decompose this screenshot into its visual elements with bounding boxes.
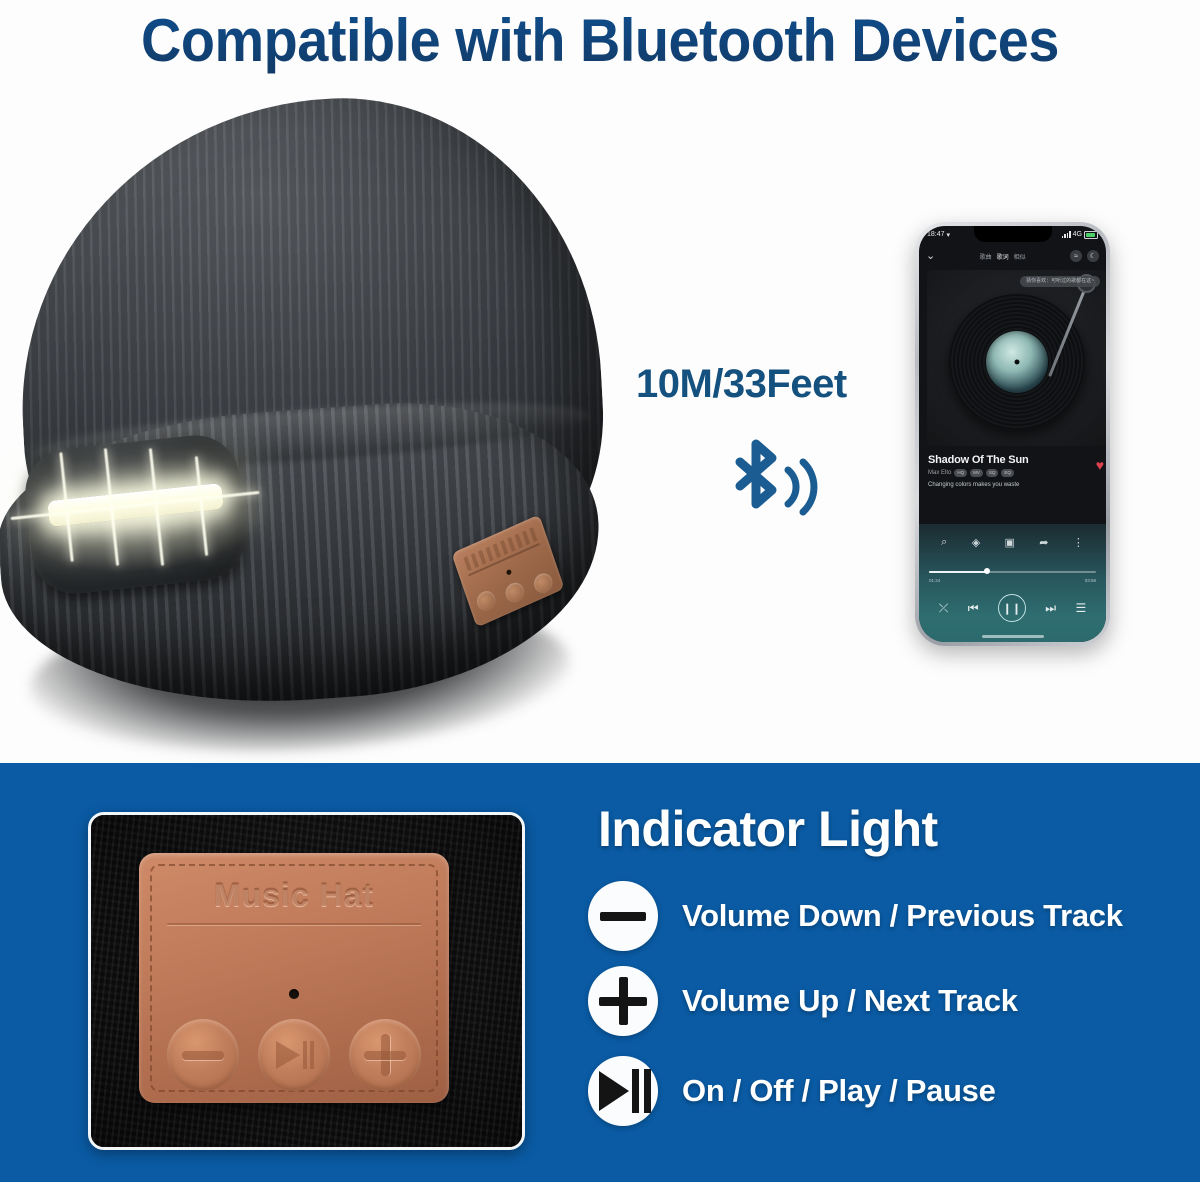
page-title: Compatible with Bluetooth Devices xyxy=(42,6,1158,75)
home-indicator xyxy=(982,635,1044,638)
now-playing-header: ⌄ 歌曲 歌词 相似 ≈ ☾ xyxy=(919,245,1106,267)
vinyl-hole xyxy=(1014,359,1019,364)
tab-song[interactable]: 歌曲 xyxy=(980,252,992,261)
tag-mv: MV xyxy=(970,469,983,477)
progress-slider[interactable]: 01:24 03:58 xyxy=(929,570,1096,574)
moon-icon[interactable]: ☾ xyxy=(1087,250,1099,262)
product-infographic: Compatible with Bluetooth Devices xyxy=(0,0,1200,1200)
status-time: 18:47 xyxy=(927,231,945,238)
track-title: Shadow Of The Sun xyxy=(928,454,1106,466)
comment-pill[interactable]: 猜你喜欢：可听过的歌都在这~ xyxy=(1020,276,1100,287)
next-icon[interactable]: ⏭ xyxy=(1045,601,1056,616)
pause-icon[interactable]: ❙❙ xyxy=(998,594,1026,622)
battery-icon xyxy=(1084,231,1098,239)
gift-icon[interactable]: ◈ xyxy=(972,536,980,549)
leather-patch-closeup: Music Hat xyxy=(139,853,449,1103)
patch-play-button xyxy=(503,580,527,606)
plus-glyph-horizontal xyxy=(599,997,647,1006)
bluetooth-signal-icon xyxy=(700,432,830,542)
play-triangle-glyph xyxy=(599,1071,629,1111)
playback-controls: ⤫ ⏮ ❙❙ ⏭ ☰ xyxy=(919,594,1106,622)
minus-glyph xyxy=(600,912,646,921)
location-icon: ▾ xyxy=(947,231,951,239)
tab-lyrics[interactable]: 歌词 xyxy=(997,252,1009,261)
heart-icon[interactable]: ♥ xyxy=(1096,458,1104,472)
feature-label: Volume Down / Previous Track xyxy=(682,898,1123,934)
elapsed-time: 01:24 xyxy=(929,578,940,583)
previous-icon[interactable]: ⏮ xyxy=(968,601,979,616)
shuffle-icon[interactable]: ⤫ xyxy=(939,601,949,616)
plus-glyph-horizontal xyxy=(364,1051,406,1060)
patch-led-dot xyxy=(506,569,512,576)
patch-plus-button xyxy=(349,1019,421,1091)
vinyl-record-art xyxy=(949,294,1085,430)
pause-bar-1 xyxy=(632,1069,639,1113)
patch-play-pause-button xyxy=(258,1019,330,1091)
signal-bars-icon xyxy=(1062,231,1071,238)
feature-row-play-pause: On / Off / Play / Pause xyxy=(588,1056,996,1126)
patch-plus-button xyxy=(531,570,555,596)
patch-minus-button xyxy=(167,1019,239,1091)
led-indicator-dot xyxy=(289,989,299,999)
smartphone-mockup: 18:47 ▾ 4G ⌄ 歌曲 歌词 xyxy=(915,222,1110,646)
tag-eq: EQ xyxy=(1001,469,1014,477)
player-controls-zone: ⌕ ◈ ▣ ➦ ⋮ 01:24 03:58 xyxy=(919,524,1106,642)
range-label: 10M/33Feet xyxy=(636,362,847,407)
phone-notch xyxy=(974,226,1052,242)
total-time: 03:58 xyxy=(1085,578,1096,583)
network-label: 4G xyxy=(1073,231,1082,238)
equalizer-icon[interactable]: ≈ xyxy=(1070,250,1082,262)
now-playing-tabs[interactable]: 歌曲 歌词 相似 xyxy=(980,252,1026,261)
track-artist[interactable]: Max Elto xyxy=(928,470,951,476)
feature-row-volume-up: Volume Up / Next Track xyxy=(588,966,1018,1036)
beanie-product-image xyxy=(0,80,650,740)
action-icons-row: ⌕ ◈ ▣ ➦ ⋮ xyxy=(919,536,1106,549)
search-icon[interactable]: ⌕ xyxy=(941,536,947,549)
patch-closeup-photo: Music Hat xyxy=(88,812,525,1150)
patch-divider-line xyxy=(167,923,421,925)
track-meta: Max Elto HQ MV SQ EQ xyxy=(928,469,1106,477)
share-icon[interactable]: ➦ xyxy=(1039,536,1048,549)
progress-fill xyxy=(929,571,987,573)
tag-sq: SQ xyxy=(986,469,999,477)
panel-title: Indicator Light xyxy=(598,800,938,858)
playlist-icon[interactable]: ☰ xyxy=(1075,601,1086,615)
play-pause-icon xyxy=(588,1056,658,1126)
feature-label: Volume Up / Next Track xyxy=(682,983,1018,1019)
bottom-white-strip xyxy=(0,1182,1200,1200)
minus-glyph xyxy=(182,1051,224,1060)
comment-icon[interactable]: ▣ xyxy=(1005,536,1015,549)
feature-row-volume-down: Volume Down / Previous Track xyxy=(588,881,1123,951)
patch-brand-text: Music Hat xyxy=(139,877,449,914)
feature-label: On / Off / Play / Pause xyxy=(682,1073,996,1109)
phone-screen: 18:47 ▾ 4G ⌄ 歌曲 歌词 xyxy=(919,226,1106,642)
patch-minus-button xyxy=(474,588,498,614)
progress-knob[interactable] xyxy=(984,568,990,574)
tag-hq: HQ xyxy=(954,469,967,477)
plus-icon xyxy=(588,966,658,1036)
top-section: Compatible with Bluetooth Devices xyxy=(0,0,1200,763)
tab-similar[interactable]: 相似 xyxy=(1014,252,1026,261)
play-pause-glyph xyxy=(272,1037,316,1073)
album-art-area: 猜你喜欢：可听过的歌都在这~ xyxy=(927,270,1106,446)
more-icon[interactable]: ⋮ xyxy=(1073,536,1084,549)
chevron-down-icon[interactable]: ⌄ xyxy=(926,251,935,262)
track-info: Shadow Of The Sun Max Elto HQ MV SQ EQ C… xyxy=(928,454,1106,488)
minus-icon xyxy=(588,881,658,951)
track-lyric: Changing colors makes you waste xyxy=(928,482,1106,488)
progress-times: 01:24 03:58 xyxy=(929,578,1096,583)
pause-bar-2 xyxy=(644,1069,651,1113)
